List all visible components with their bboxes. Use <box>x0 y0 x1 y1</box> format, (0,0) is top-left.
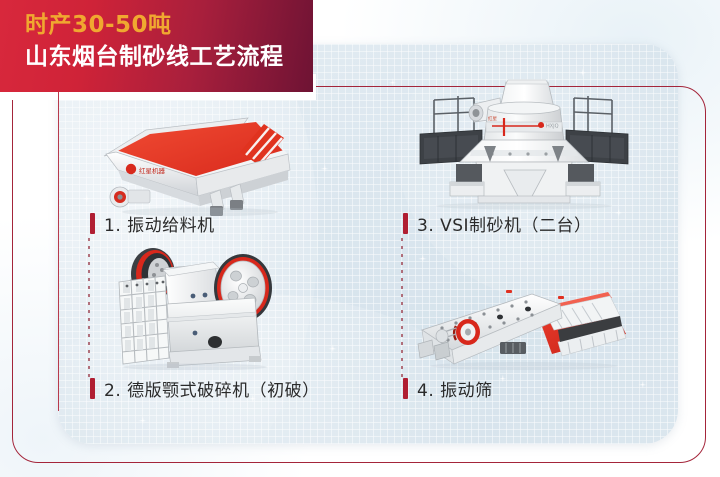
frame-vertical-line <box>58 86 59 411</box>
label-marker <box>90 213 95 234</box>
item-label-2: 2. 德版颚式破碎机（初破） <box>90 376 320 401</box>
svg-text:红星: 红星 <box>488 115 497 122</box>
item-label-text: 1. 振动给料机 <box>104 211 215 236</box>
jaw-crusher-image <box>103 246 293 370</box>
vibrating-feeder-image: 红星机器 <box>88 108 318 216</box>
label-marker <box>403 378 408 399</box>
vibrating-screen-image <box>412 272 640 376</box>
item-label-1: 1. 振动给料机 <box>90 211 215 236</box>
label-marker <box>403 213 408 234</box>
item-label-3: 3. VSI制砂机（二台） <box>403 211 592 236</box>
svg-text:HXJQ: HXJQ <box>546 124 559 130</box>
banner-title-text: 山东烟台制砂线工艺流程 <box>25 46 284 69</box>
item-label-text: 4. 振动筛 <box>417 376 493 401</box>
vsi-sand-maker-image: HXJQ 红星 <box>412 78 638 210</box>
banner-capacity-text: 时产30-50吨 <box>25 14 172 37</box>
flowchart-canvas: 时产30-50吨 山东烟台制砂线工艺流程 <box>0 0 720 477</box>
title-banner: 时产30-50吨 山东烟台制砂线工艺流程 <box>0 0 313 92</box>
connector-left-column <box>88 238 90 382</box>
label-marker <box>90 378 95 399</box>
item-label-4: 4. 振动筛 <box>403 376 493 401</box>
item-label-text: 3. VSI制砂机（二台） <box>417 211 592 236</box>
item-label-text: 2. 德版颚式破碎机（初破） <box>104 376 320 401</box>
svg-text:红星机器: 红星机器 <box>139 166 166 175</box>
connector-right-column <box>401 238 403 382</box>
